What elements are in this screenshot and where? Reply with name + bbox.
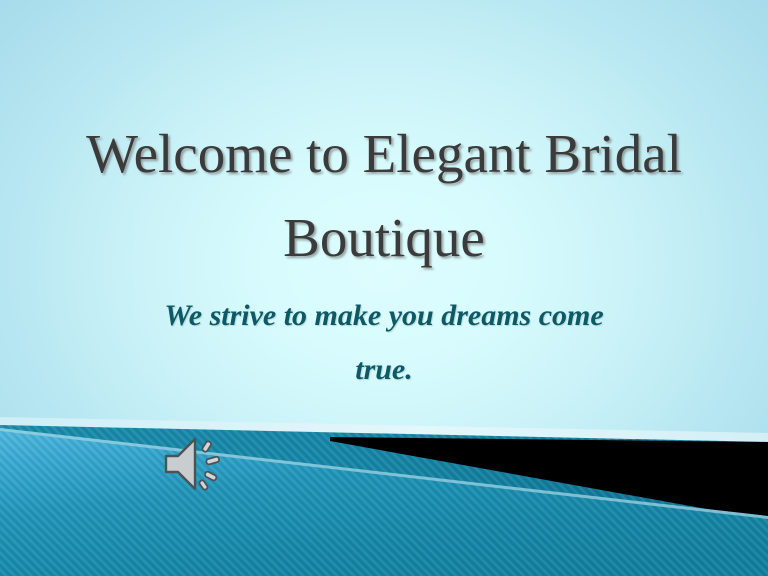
sound-wave-arcs (199, 440, 220, 490)
slide-text-block: Welcome to Elegant Bridal Boutique We st… (0, 0, 768, 396)
speaker-cone-shape (166, 439, 195, 489)
subtitle-line-1: We strive to make you dreams come (0, 289, 768, 342)
page-title: Welcome to Elegant Bridal Boutique (0, 112, 768, 279)
slide-subtitle: We strive to make you dreams come true. (0, 289, 768, 396)
speaker-icon[interactable] (162, 432, 228, 496)
band-black-wedge (330, 437, 768, 520)
title-line-2: Boutique (0, 196, 768, 280)
title-line-1: Welcome to Elegant Bridal (0, 112, 768, 196)
band-front-teal (0, 428, 768, 576)
band-front-edge-line (0, 428, 768, 519)
presentation-slide: Welcome to Elegant Bridal Boutique We st… (0, 0, 768, 576)
band-highlight-sliver (0, 417, 768, 444)
subtitle-line-2: true. (0, 343, 768, 396)
band-back-teal (0, 425, 768, 576)
